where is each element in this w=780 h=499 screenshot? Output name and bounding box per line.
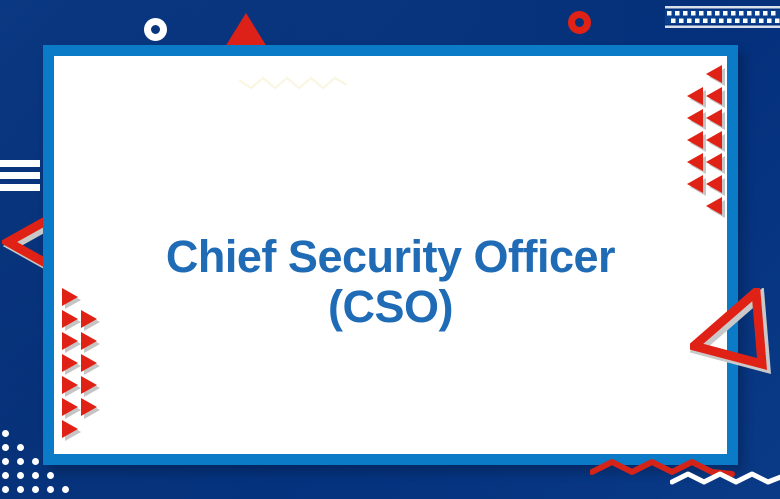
triangle-left-icon	[706, 175, 722, 193]
triangle-right-icon	[62, 310, 78, 328]
triangle-right-cluster-icon	[62, 288, 122, 438]
triangle-right-icon	[81, 398, 97, 416]
grid-dot	[32, 458, 39, 465]
hamburger-bar	[0, 184, 40, 191]
checkered-strip-icon	[665, 6, 780, 35]
triangle-right-icon	[81, 310, 97, 328]
triangle-left-icon	[687, 175, 703, 193]
grid-dot	[2, 430, 9, 437]
zigzag-watermark-icon	[239, 74, 349, 97]
triangle-right-icon	[62, 420, 78, 438]
triangle-right-icon	[62, 376, 78, 394]
grid-dot	[2, 472, 9, 479]
grid-dot	[17, 444, 24, 451]
grid-dot	[17, 458, 24, 465]
slide-canvas: Chief Security Officer (CSO)	[0, 0, 780, 499]
triangle-left-icon	[706, 87, 722, 105]
triangle-up-icon	[225, 13, 267, 47]
triangle-left-icon	[687, 131, 703, 149]
content-card: Chief Security Officer (CSO)	[54, 56, 727, 454]
triangle-outline-right-icon	[690, 288, 776, 379]
grid-dot	[2, 458, 9, 465]
triangle-right-icon	[62, 398, 78, 416]
triangle-right-icon	[81, 354, 97, 372]
triangle-right-icon	[62, 332, 78, 350]
hamburger-menu-icon	[0, 160, 40, 196]
grid-dot	[47, 472, 54, 479]
circle-outline-icon	[144, 18, 167, 41]
hamburger-bar	[0, 172, 40, 179]
hamburger-bar	[0, 160, 40, 167]
grid-dot	[62, 486, 69, 493]
content-card-border: Chief Security Officer (CSO)	[43, 45, 738, 465]
triangle-left-icon	[706, 131, 722, 149]
zigzag-line-icon	[670, 470, 780, 493]
triangle-left-icon	[706, 109, 722, 127]
grid-dot	[17, 472, 24, 479]
grid-dot	[32, 472, 39, 479]
triangle-left-icon	[706, 153, 722, 171]
grid-dot	[32, 486, 39, 493]
triangle-left-icon	[706, 197, 722, 215]
circle-outline-icon	[568, 11, 591, 34]
grid-dot	[17, 486, 24, 493]
triangle-right-icon	[81, 376, 97, 394]
grid-dot	[47, 486, 54, 493]
triangle-left-icon	[687, 87, 703, 105]
triangle-right-icon	[62, 354, 78, 372]
triangle-left-icon	[687, 153, 703, 171]
triangle-left-cluster-icon	[685, 65, 745, 215]
grid-dot	[2, 444, 9, 451]
triangle-left-icon	[687, 109, 703, 127]
grid-dot	[2, 486, 9, 493]
triangle-right-icon	[62, 288, 78, 306]
page-title: Chief Security Officer (CSO)	[54, 232, 727, 333]
triangle-right-icon	[81, 332, 97, 350]
triangle-left-icon	[706, 65, 722, 83]
